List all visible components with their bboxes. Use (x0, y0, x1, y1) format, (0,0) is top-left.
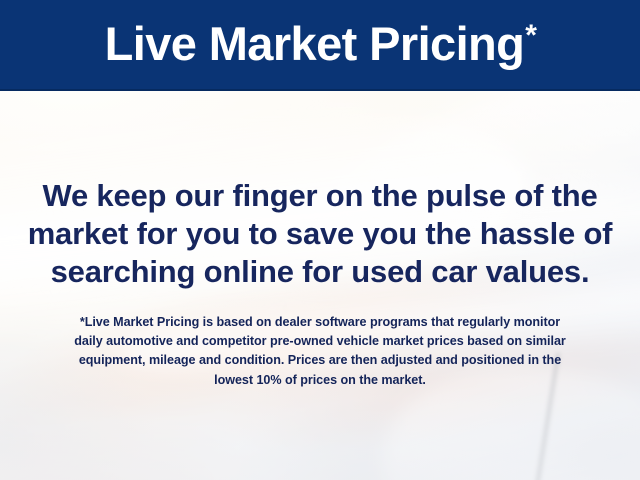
disclaimer-line-3: equipment, mileage and condition. Prices… (30, 351, 610, 370)
disclaimer-line-2: daily automotive and competitor pre-owne… (30, 332, 610, 351)
headline: We keep our finger on the pulse of the m… (0, 177, 640, 291)
headline-line-2: market for you to save you the hassle of (0, 215, 640, 253)
page-title-text: Live Market Pricing (105, 17, 525, 70)
live-market-pricing-banner: Live Market Pricing* We keep our finger … (0, 0, 640, 480)
headline-line-1: We keep our finger on the pulse of the (0, 177, 640, 215)
disclaimer-line-4: lowest 10% of prices on the market. (30, 371, 610, 390)
page-title: Live Market Pricing* (105, 20, 536, 67)
disclaimer-line-1: *Live Market Pricing is based on dealer … (30, 313, 610, 332)
header-band: Live Market Pricing* (0, 0, 640, 91)
disclaimer: *Live Market Pricing is based on dealer … (30, 313, 610, 390)
footnote-asterisk: * (525, 19, 536, 52)
content-area: We keep our finger on the pulse of the m… (0, 91, 640, 480)
headline-line-3: searching online for used car values. (0, 253, 640, 291)
